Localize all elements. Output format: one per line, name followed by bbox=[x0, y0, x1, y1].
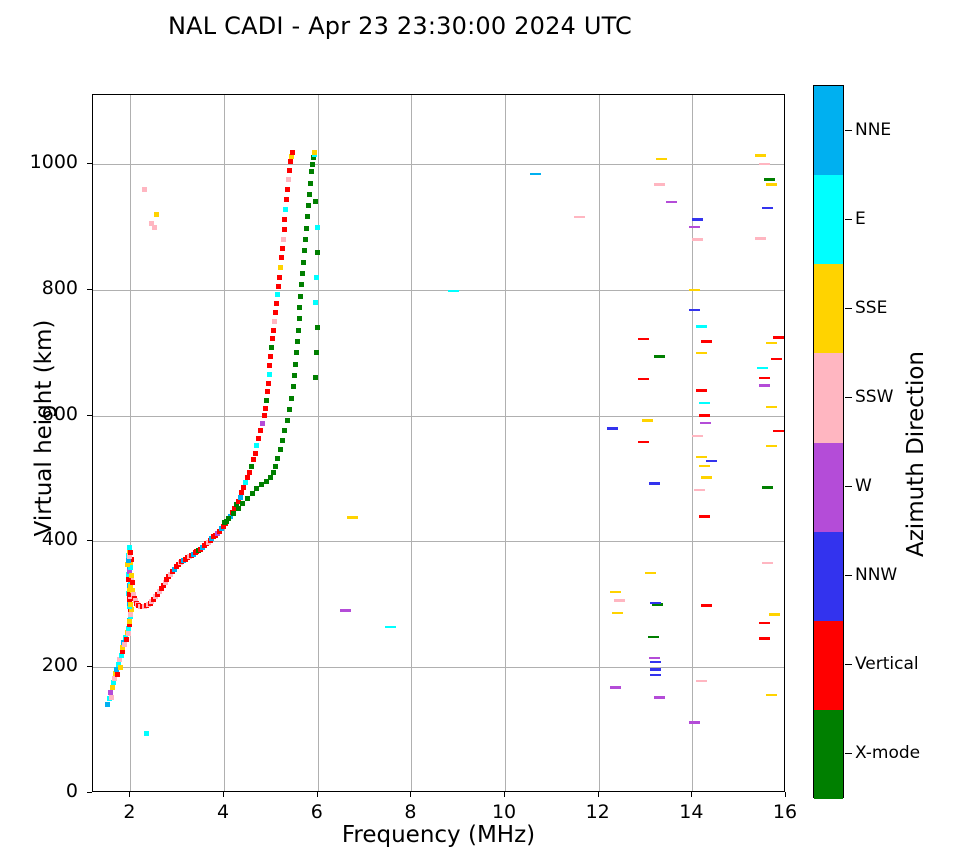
data-point bbox=[278, 447, 283, 452]
data-point bbox=[250, 491, 255, 496]
data-point bbox=[654, 696, 665, 699]
data-point bbox=[310, 162, 315, 167]
data-point bbox=[118, 665, 123, 670]
x-tick-label: 14 bbox=[661, 801, 721, 823]
data-point bbox=[769, 613, 780, 616]
data-point bbox=[279, 255, 284, 260]
data-point bbox=[299, 282, 304, 287]
gridline-horizontal bbox=[93, 164, 784, 165]
colorbar-tick bbox=[845, 753, 852, 754]
y-tick-label: 400 bbox=[8, 528, 78, 550]
colorbar-label-w: W bbox=[855, 476, 872, 496]
data-point bbox=[105, 702, 110, 707]
data-point bbox=[238, 495, 243, 500]
data-point bbox=[638, 441, 649, 444]
y-tick-label: 200 bbox=[8, 654, 78, 676]
data-point bbox=[315, 250, 320, 255]
data-point bbox=[696, 456, 707, 459]
x-tick bbox=[598, 792, 599, 797]
data-point bbox=[289, 396, 294, 401]
colorbar-tick bbox=[845, 130, 852, 131]
data-point bbox=[314, 275, 319, 280]
colorbar-segment-ssw[interactable] bbox=[814, 353, 843, 442]
data-point bbox=[692, 238, 703, 241]
data-point bbox=[287, 407, 292, 412]
data-point bbox=[649, 657, 660, 660]
scatter-canvas bbox=[93, 95, 784, 791]
data-point bbox=[309, 169, 314, 174]
y-tick-label: 1000 bbox=[8, 151, 78, 173]
data-point bbox=[285, 418, 290, 423]
data-point bbox=[666, 201, 677, 204]
data-point bbox=[245, 496, 250, 501]
data-point bbox=[699, 515, 710, 518]
data-point bbox=[574, 216, 585, 219]
y-tick bbox=[87, 792, 92, 793]
data-point bbox=[304, 226, 309, 231]
data-point bbox=[759, 622, 770, 625]
data-point bbox=[762, 207, 773, 210]
x-tick-label: 2 bbox=[99, 801, 159, 823]
data-point bbox=[293, 362, 298, 367]
data-point bbox=[124, 637, 129, 642]
data-point bbox=[236, 506, 241, 511]
data-point bbox=[269, 345, 274, 350]
data-point bbox=[283, 207, 288, 212]
x-tick bbox=[504, 792, 505, 797]
gridline-horizontal bbox=[93, 667, 784, 668]
data-point bbox=[307, 192, 312, 197]
data-point bbox=[610, 686, 621, 689]
data-point bbox=[699, 465, 710, 468]
gridline-horizontal bbox=[93, 416, 784, 417]
data-point bbox=[282, 217, 287, 222]
data-point bbox=[270, 336, 275, 341]
data-point bbox=[762, 562, 773, 565]
colorbar-label-nnw: NNW bbox=[855, 565, 897, 585]
data-point bbox=[656, 158, 667, 161]
data-point bbox=[268, 354, 273, 359]
x-tick-label: 4 bbox=[193, 801, 253, 823]
data-point bbox=[110, 685, 115, 690]
data-point bbox=[313, 199, 318, 204]
data-point bbox=[305, 214, 310, 219]
y-tick bbox=[87, 289, 92, 290]
data-point bbox=[241, 485, 246, 490]
data-point bbox=[265, 389, 270, 394]
data-point bbox=[296, 328, 301, 333]
colorbar-segment-vertical[interactable] bbox=[814, 621, 843, 710]
data-point bbox=[253, 451, 258, 456]
data-point bbox=[288, 159, 293, 164]
data-point bbox=[272, 319, 277, 324]
data-point bbox=[315, 325, 320, 330]
data-point bbox=[699, 402, 710, 405]
y-tick bbox=[87, 163, 92, 164]
colorbar-label-ssw: SSW bbox=[855, 387, 893, 407]
data-point bbox=[706, 460, 717, 463]
data-point bbox=[766, 342, 777, 345]
data-point bbox=[654, 183, 665, 186]
y-tick bbox=[87, 540, 92, 541]
colorbar-label-sse: SSE bbox=[855, 298, 887, 318]
y-tick-label: 0 bbox=[8, 780, 78, 802]
data-point bbox=[297, 316, 302, 321]
data-point bbox=[142, 187, 147, 192]
colorbar-label-vertical: Vertical bbox=[855, 654, 919, 674]
data-point bbox=[281, 237, 286, 242]
data-point bbox=[301, 260, 306, 265]
data-point bbox=[692, 218, 703, 221]
data-point bbox=[692, 435, 703, 438]
y-tick-label: 800 bbox=[8, 277, 78, 299]
data-point bbox=[122, 642, 127, 647]
data-point bbox=[347, 516, 358, 519]
ionogram-plot bbox=[92, 94, 785, 792]
data-point bbox=[755, 154, 766, 157]
gridline-vertical bbox=[130, 95, 131, 791]
data-point bbox=[258, 428, 263, 433]
data-point bbox=[650, 661, 661, 664]
data-point bbox=[274, 301, 279, 306]
colorbar-tick bbox=[845, 397, 852, 398]
x-axis-title: Frequency (MHz) bbox=[92, 822, 785, 848]
data-point bbox=[649, 482, 660, 485]
data-point bbox=[144, 731, 149, 736]
colorbar-segment-e[interactable] bbox=[814, 175, 843, 264]
data-point bbox=[766, 183, 777, 186]
data-point bbox=[614, 599, 625, 602]
data-point bbox=[262, 413, 267, 418]
data-point bbox=[277, 275, 282, 280]
data-point bbox=[759, 384, 770, 387]
data-point bbox=[696, 389, 707, 392]
x-tick-label: 8 bbox=[380, 801, 440, 823]
data-point bbox=[694, 489, 705, 492]
x-tick bbox=[785, 792, 786, 797]
data-point bbox=[128, 612, 133, 617]
data-point bbox=[696, 352, 707, 355]
data-point bbox=[263, 406, 268, 411]
data-point bbox=[689, 721, 700, 724]
page-title: NAL CADI - Apr 23 23:30:00 2024 UTC bbox=[0, 12, 800, 40]
data-point bbox=[762, 486, 773, 489]
data-point bbox=[286, 177, 291, 182]
data-point bbox=[126, 631, 131, 636]
data-point bbox=[120, 649, 125, 654]
data-point bbox=[610, 591, 621, 594]
data-point bbox=[654, 355, 665, 358]
colorbar-label-nne: NNE bbox=[855, 120, 891, 140]
x-tick bbox=[223, 792, 224, 797]
data-point bbox=[759, 637, 770, 640]
data-point bbox=[757, 367, 768, 370]
data-point bbox=[306, 203, 311, 208]
data-point bbox=[689, 309, 700, 312]
data-point bbox=[699, 414, 710, 417]
data-point bbox=[638, 338, 649, 341]
data-point bbox=[115, 672, 120, 677]
data-point bbox=[612, 612, 623, 615]
data-point bbox=[696, 325, 707, 328]
data-point bbox=[701, 476, 712, 479]
data-point bbox=[231, 511, 236, 516]
data-point bbox=[129, 573, 134, 578]
colorbar-segment-sse[interactable] bbox=[814, 264, 843, 353]
x-tick bbox=[129, 792, 130, 797]
x-tick-label: 6 bbox=[287, 801, 347, 823]
data-point bbox=[273, 310, 278, 315]
data-point bbox=[278, 265, 283, 270]
data-point bbox=[297, 305, 302, 310]
data-point bbox=[119, 653, 124, 658]
data-point bbox=[295, 339, 300, 344]
data-point bbox=[689, 226, 700, 229]
x-tick bbox=[317, 792, 318, 797]
data-point bbox=[645, 572, 656, 575]
y-tick bbox=[87, 415, 92, 416]
colorbar-tick bbox=[845, 486, 852, 487]
data-point bbox=[273, 464, 278, 469]
colorbar-tick bbox=[845, 219, 852, 220]
data-point bbox=[766, 445, 777, 448]
data-point bbox=[771, 358, 782, 361]
data-point bbox=[285, 187, 290, 192]
data-point bbox=[650, 668, 661, 671]
data-point bbox=[313, 375, 318, 380]
data-point bbox=[287, 168, 292, 173]
y-tick bbox=[87, 666, 92, 667]
data-point bbox=[226, 516, 231, 521]
colorbar-tick bbox=[845, 575, 852, 576]
colorbar-segment-nnw[interactable] bbox=[814, 532, 843, 621]
data-point bbox=[314, 350, 319, 355]
gridline-vertical bbox=[692, 95, 693, 791]
colorbar-tick bbox=[845, 664, 852, 665]
data-point bbox=[266, 381, 271, 386]
data-point bbox=[759, 377, 770, 380]
data-point bbox=[298, 294, 303, 299]
data-point bbox=[700, 422, 711, 425]
gridline-vertical bbox=[505, 95, 506, 791]
data-point bbox=[243, 480, 248, 485]
data-point bbox=[240, 501, 245, 506]
data-point bbox=[239, 490, 244, 495]
data-point bbox=[650, 602, 661, 605]
data-point bbox=[264, 398, 269, 403]
data-point bbox=[282, 227, 287, 232]
x-tick-label: 12 bbox=[568, 801, 628, 823]
data-point bbox=[249, 464, 254, 469]
data-point bbox=[267, 372, 272, 377]
data-point bbox=[149, 221, 154, 226]
data-point bbox=[292, 373, 297, 378]
data-point bbox=[302, 248, 307, 253]
data-point bbox=[282, 428, 287, 433]
data-point bbox=[701, 604, 712, 607]
data-point bbox=[313, 300, 318, 305]
data-point bbox=[280, 438, 285, 443]
x-tick bbox=[691, 792, 692, 797]
gridline-vertical bbox=[224, 95, 225, 791]
data-point bbox=[689, 289, 700, 292]
data-point bbox=[759, 163, 770, 166]
data-point bbox=[638, 378, 649, 381]
data-point bbox=[268, 475, 273, 480]
data-point bbox=[764, 178, 775, 181]
data-point bbox=[650, 674, 661, 677]
data-point bbox=[251, 457, 256, 462]
data-point bbox=[284, 197, 289, 202]
data-point bbox=[308, 181, 313, 186]
data-point bbox=[245, 475, 250, 480]
data-point bbox=[755, 237, 766, 240]
data-point bbox=[254, 443, 259, 448]
data-point bbox=[300, 271, 305, 276]
data-point bbox=[290, 150, 295, 155]
colorbar-label-e: E bbox=[855, 209, 866, 229]
gridline-vertical bbox=[599, 95, 600, 791]
x-tick bbox=[410, 792, 411, 797]
data-point bbox=[607, 427, 618, 430]
data-point bbox=[773, 336, 784, 339]
data-point bbox=[303, 237, 308, 242]
data-point bbox=[154, 212, 159, 217]
data-point bbox=[109, 695, 114, 700]
data-point bbox=[294, 350, 299, 355]
y-axis-title: Virtual height (km) bbox=[31, 198, 57, 658]
data-point bbox=[340, 609, 351, 612]
data-point bbox=[315, 225, 320, 230]
colorbar-label-x-mode: X-mode bbox=[855, 743, 920, 763]
data-point bbox=[127, 619, 132, 624]
data-point bbox=[701, 340, 712, 343]
colorbar-tick bbox=[845, 308, 852, 309]
data-point bbox=[271, 328, 276, 333]
data-point bbox=[128, 550, 133, 555]
data-point bbox=[275, 456, 280, 461]
data-point bbox=[256, 436, 261, 441]
data-point bbox=[773, 430, 784, 433]
x-tick-label: 16 bbox=[755, 801, 815, 823]
data-point bbox=[280, 246, 285, 251]
data-point bbox=[267, 363, 272, 368]
data-point bbox=[275, 292, 280, 297]
gridline-vertical bbox=[411, 95, 412, 791]
colorbar-segment-w[interactable] bbox=[814, 443, 843, 532]
data-point bbox=[766, 694, 777, 697]
colorbar-segment-x-mode[interactable] bbox=[814, 710, 843, 799]
colorbar[interactable] bbox=[813, 85, 844, 798]
data-point bbox=[385, 626, 396, 629]
data-point bbox=[260, 421, 265, 426]
data-point bbox=[271, 470, 276, 475]
data-point bbox=[276, 284, 281, 289]
colorbar-segment-nne[interactable] bbox=[814, 86, 843, 175]
data-point bbox=[696, 680, 707, 683]
gridline-horizontal bbox=[93, 541, 784, 542]
data-point bbox=[291, 384, 296, 389]
colorbar-title: Azimuth Direction bbox=[903, 224, 929, 684]
y-tick-label: 600 bbox=[8, 403, 78, 425]
data-point bbox=[530, 173, 541, 176]
data-point bbox=[312, 150, 317, 155]
data-point bbox=[648, 636, 659, 639]
gridline-horizontal bbox=[93, 290, 784, 291]
data-point bbox=[247, 470, 252, 475]
x-tick-label: 10 bbox=[474, 801, 534, 823]
data-point bbox=[448, 290, 459, 293]
data-point bbox=[642, 419, 653, 422]
data-point bbox=[130, 580, 135, 585]
data-point bbox=[766, 406, 777, 409]
